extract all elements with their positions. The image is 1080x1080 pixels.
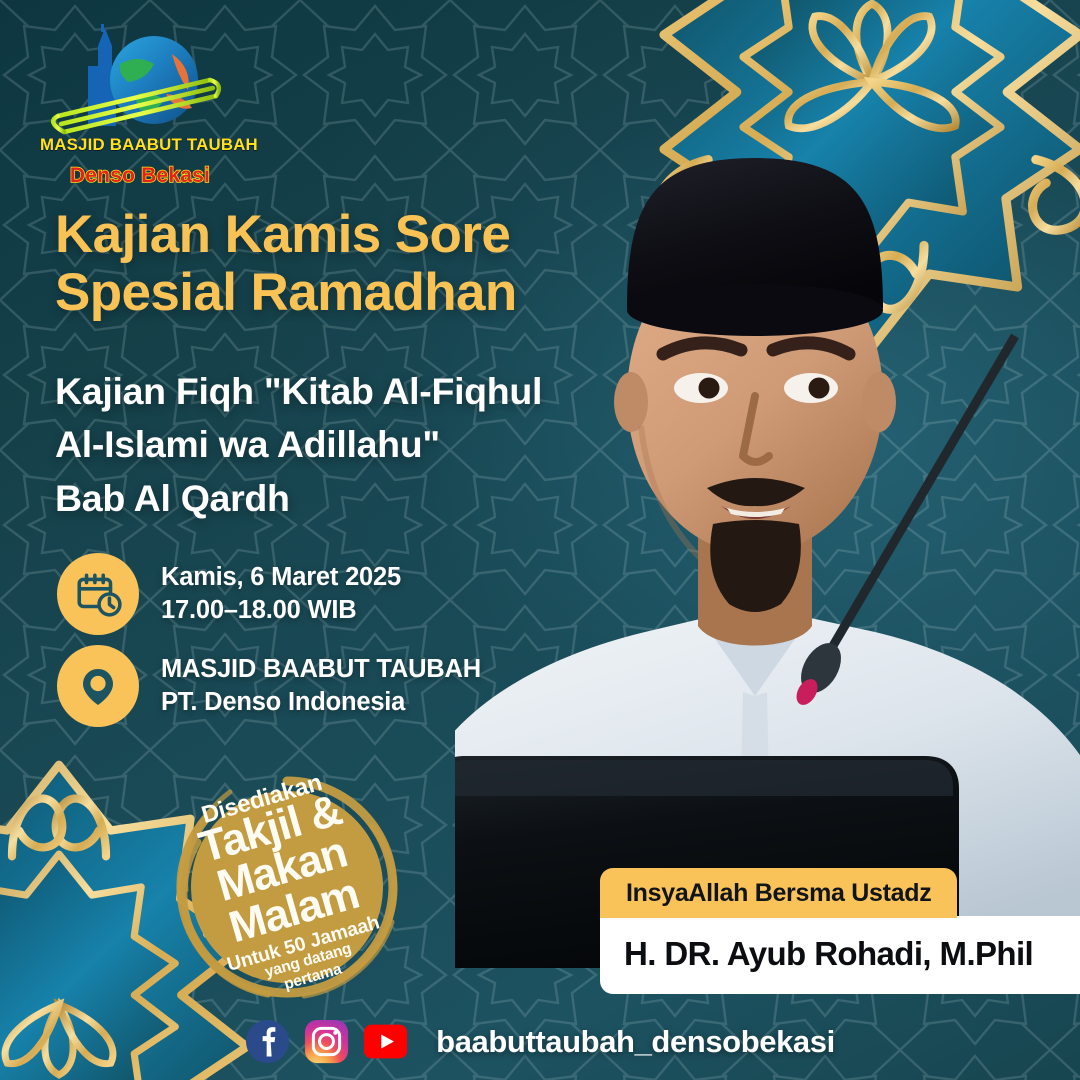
subhead-line3: Bab Al Qardh: [55, 472, 695, 525]
subtitle: Kajian Fiqh "Kitab Al-Fiqhul Al-Islami w…: [55, 365, 695, 525]
speaker-tab-label: InsyaAllah Bersma Ustadz: [600, 868, 957, 918]
takjil-badge: Disediakan Takjil & Makan Malam Untuk 50…: [172, 772, 402, 1002]
speaker-name: H. DR. Ayub Rohadi, M.Phil: [600, 916, 1080, 994]
venue-company: PT. Denso Indonesia: [161, 686, 481, 719]
social-footer: baabuttaubah_densobekasi: [0, 1019, 1080, 1064]
event-date: Kamis, 6 Maret 2025: [161, 563, 401, 591]
logo-line2: Denso Bekasi: [42, 164, 238, 188]
facebook-icon[interactable]: [245, 1019, 290, 1064]
poster-canvas: MASJID BAABUT TAUBAH Denso Bekasi Kajian…: [0, 0, 1080, 1080]
event-datetime-text: Kamis, 6 Maret 2025 17.00–18.00 WIB: [161, 561, 401, 628]
venue-name: MASJID BAABUT TAUBAH: [161, 655, 481, 683]
islamic-ornament-icon: [612, 0, 1080, 352]
headline-line2: Spesial Ramadhan: [55, 264, 675, 322]
event-datetime-row: Kamis, 6 Maret 2025 17.00–18.00 WIB: [57, 553, 577, 635]
calendar-clock-icon: [57, 553, 139, 635]
instagram-icon[interactable]: [304, 1019, 349, 1064]
speaker-nameplate: InsyaAllah Bersma Ustadz H. DR. Ayub Roh…: [600, 868, 1080, 994]
event-location-row: MASJID BAABUT TAUBAH PT. Denso Indonesia: [57, 645, 577, 727]
event-time: 17.00–18.00 WIB: [161, 594, 401, 627]
logo-line1: MASJID BAABUT TAUBAH: [40, 136, 240, 155]
organization-logo: MASJID BAABUT TAUBAH Denso Bekasi: [42, 24, 238, 192]
mosque-globe-logo: [42, 24, 238, 144]
youtube-icon[interactable]: [363, 1019, 408, 1064]
subhead-line1: Kajian Fiqh "Kitab Al-Fiqhul: [55, 365, 695, 418]
subhead-line2: Al-Islami wa Adillahu": [55, 418, 695, 471]
page-title: Kajian Kamis Sore Spesial Ramadhan: [55, 206, 675, 323]
location-pin-icon: [57, 645, 139, 727]
event-details: Kamis, 6 Maret 2025 17.00–18.00 WIB MASJ…: [57, 553, 577, 737]
event-location-text: MASJID BAABUT TAUBAH PT. Denso Indonesia: [161, 653, 481, 720]
headline-line1: Kajian Kamis Sore: [55, 206, 675, 264]
social-handle[interactable]: baabuttaubah_densobekasi: [436, 1024, 835, 1060]
